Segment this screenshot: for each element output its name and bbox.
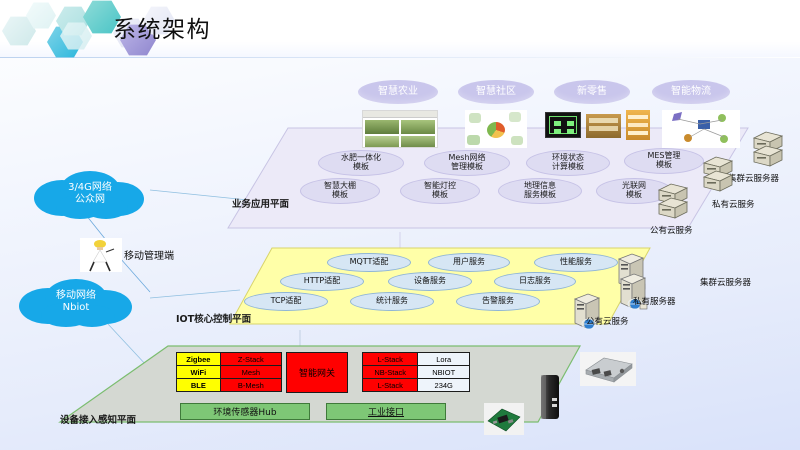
table-row[interactable]: WiFi Mesh [177,366,282,379]
thumb-retail-shelf-a [586,114,621,138]
server-stack-private-cloud[interactable] [700,155,736,202]
smart-gateway-block[interactable]: 智能网关 [286,352,348,393]
topic-smart-community[interactable]: 智慧社区 [458,80,534,104]
table-row[interactable]: BLE B-Mesh [177,379,282,392]
plane-iot-core-control-label: IOT核心控制平面 [176,311,251,325]
server-stack-private-cloud-label: 私有云服务 [712,198,755,210]
industrial-interface-bar[interactable]: 工业接口 [326,403,446,420]
mobile-admin-icon [80,238,122,272]
table-row[interactable]: Zigbee Z-Stack [177,353,282,366]
service-statistics[interactable]: 统计服务 [350,292,434,311]
topic-smart-logistics[interactable]: 智能物流 [652,80,730,104]
server-stack-cluster-cloud[interactable] [750,130,786,177]
cell-stack: Mesh [220,366,281,379]
cell-protocol: WiFi [177,366,221,379]
service-device[interactable]: 设备服务 [388,272,472,291]
access-protocol-table-right: L-Stack Lora NB-Stack NBIOT L-Stack 234G [362,352,470,392]
thumb-greenhouse-dashboard [362,110,438,148]
cell-network: Lora [418,353,470,366]
cell-protocol: BLE [177,379,221,392]
hardware-industrial-gateway [580,352,636,386]
cell-stack: L-Stack [363,353,418,366]
service-alarm[interactable]: 告警服务 [456,292,540,311]
server-tower-public-cloud-label: 公有云服务 [586,315,629,327]
network-cloud-nbiot-label: 移动网络 Nbiot [56,290,96,314]
service-http-adapter[interactable]: HTTP适配 [280,272,364,291]
hardware-pcb-module [484,403,524,435]
cell-stack: Z-Stack [220,353,281,366]
smart-gateway-label: 智能网关 [299,366,335,379]
service-user[interactable]: 用户服务 [428,253,510,272]
plane-device-access-label: 设备接入感知平面 [60,412,136,426]
table-row[interactable]: NB-Stack NBIOT [363,366,470,379]
access-protocol-table-left: Zigbee Z-Stack WiFi Mesh BLE B-Mesh [176,352,282,392]
table-row[interactable]: L-Stack Lora [363,353,470,366]
template-mes-management[interactable]: MES管理 模板 [624,148,704,174]
topic-smart-agriculture[interactable]: 智慧农业 [358,80,438,104]
cell-stack: L-Stack [363,379,418,392]
template-water-fertilizer[interactable]: 水肥一体化 模板 [318,150,404,176]
cell-stack: B-Mesh [220,379,281,392]
server-tower-private-label: 私有服务器 [633,295,676,307]
thumb-logistics-diagram [662,110,740,148]
service-performance[interactable]: 性能服务 [534,253,618,272]
table-row[interactable]: L-Stack 234G [363,379,470,392]
plane-business-application-label: 业务应用平面 [232,196,289,210]
cell-protocol: Zigbee [177,353,221,366]
server-stack-public-cloud[interactable] [655,182,691,229]
thumb-retail-screen [545,112,581,138]
mobile-admin-label: 移动管理端 [124,247,174,262]
service-tcp-adapter[interactable]: TCP适配 [244,292,328,311]
template-geo-info-service[interactable]: 地理信息 服务模板 [498,178,582,204]
env-sensor-hub-label: 环境传感器Hub [213,405,276,418]
hardware-black-terminal [536,372,564,422]
page-title: 系统架构 [113,10,211,44]
server-tower-cluster-cloud-label: 集群云服务器 [700,276,751,288]
slide-canvas: 系统架构 业务应用平面 智慧农业 智慧社区 新零售 智能物流 [0,0,800,450]
cell-stack: NB-Stack [363,366,418,379]
network-cloud-3g4g-label: 3/4G网络 公众网 [68,182,112,206]
template-env-state-compute[interactable]: 环境状态 计算模板 [526,150,610,176]
network-cloud-3g4g[interactable]: 3/4G网络 公众网 [28,168,152,220]
env-sensor-hub-bar[interactable]: 环境传感器Hub [180,403,310,420]
thumb-retail-shelf-b [626,110,650,140]
header-divider [0,57,800,58]
cell-network: 234G [418,379,470,392]
network-cloud-nbiot[interactable]: 移动网络 Nbiot [12,276,140,328]
template-mesh-network-mgmt[interactable]: Mesh网络 管理模板 [424,150,510,176]
topic-new-retail[interactable]: 新零售 [554,80,630,104]
thumb-community-network [465,110,527,148]
template-smart-greenhouse[interactable]: 智慧大棚 模板 [300,178,380,204]
server-stack-public-cloud-label: 公有云服务 [650,224,693,236]
industrial-interface-label: 工业接口 [368,405,404,418]
template-smart-lighting[interactable]: 智能灯控 模板 [400,178,480,204]
service-mqtt-adapter[interactable]: MQTT适配 [327,253,411,272]
service-log[interactable]: 日志服务 [494,272,576,291]
cell-network: NBIOT [418,366,470,379]
